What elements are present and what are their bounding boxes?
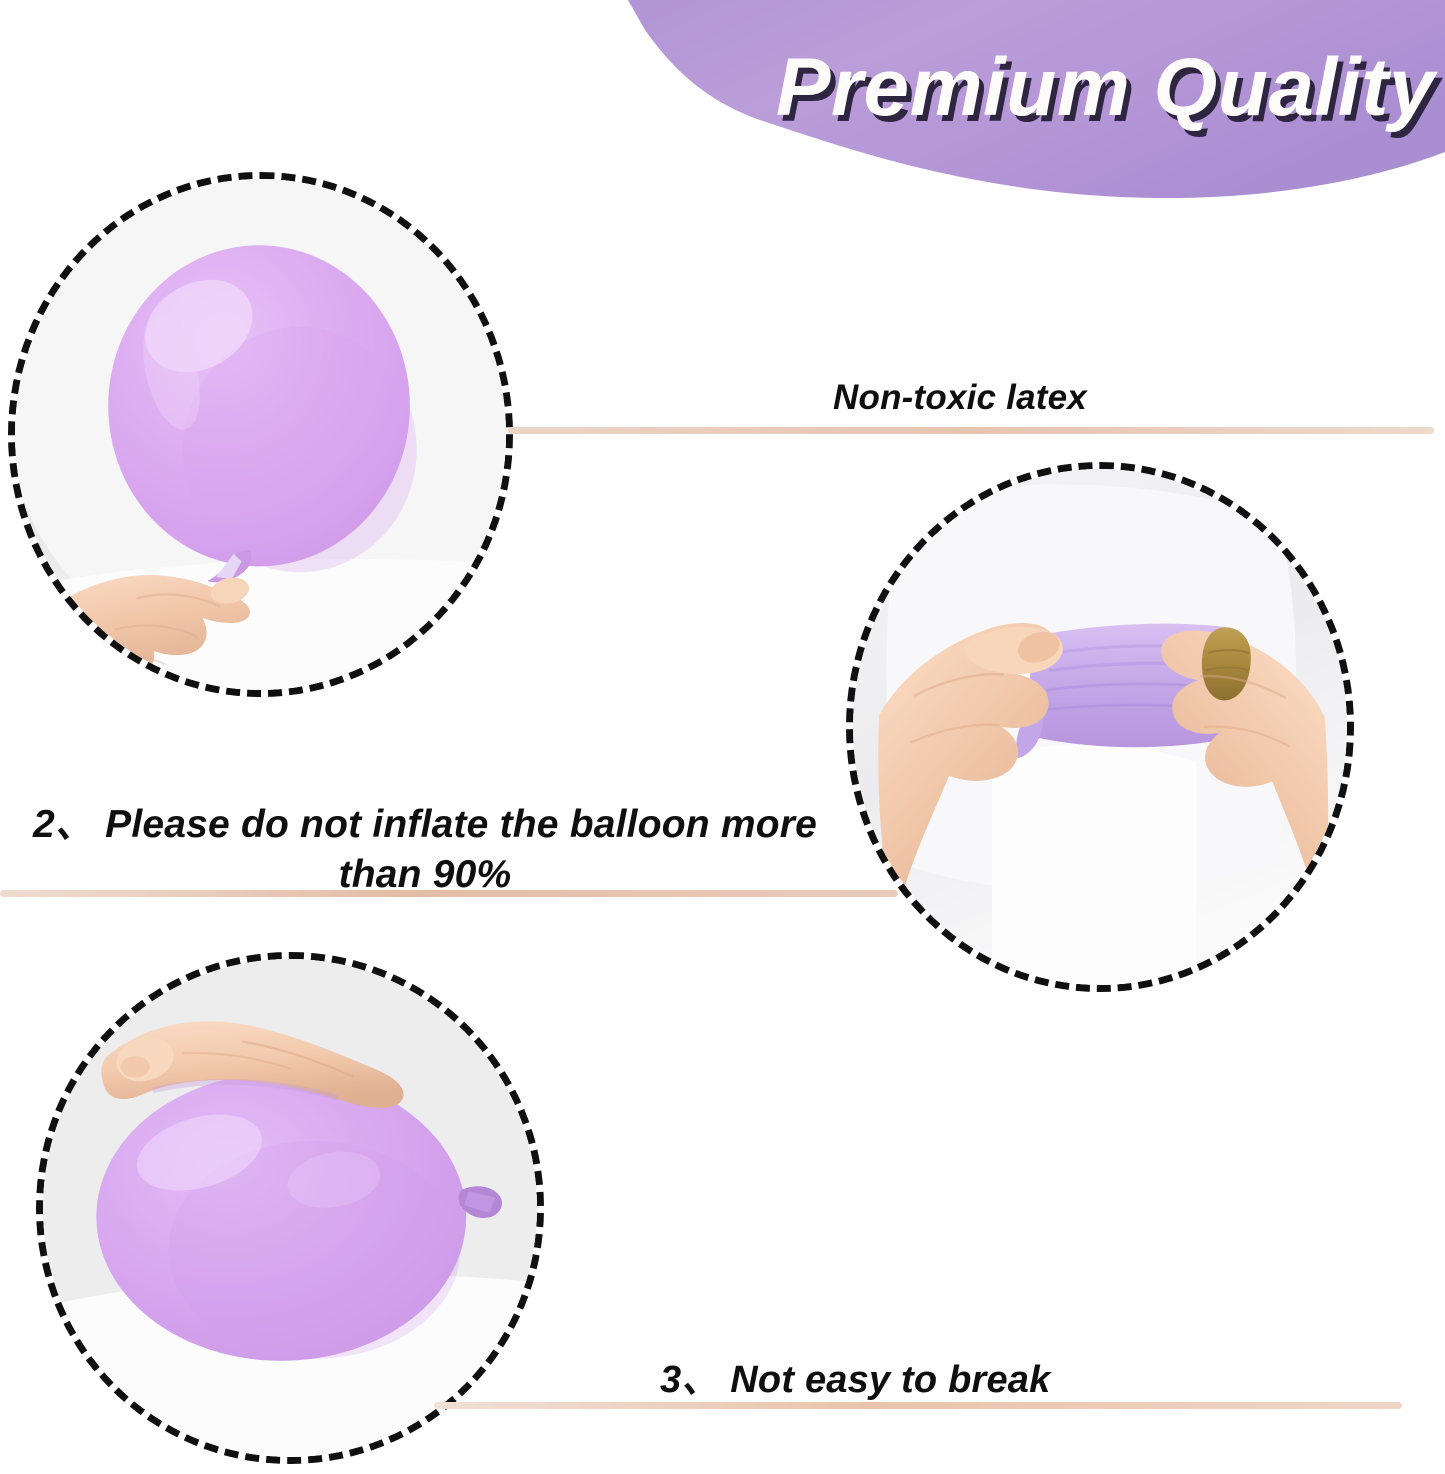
hand-holding-inflated-balloon-image [8,172,513,697]
feature-label-inflate-limit: 2、 Please do not inflate the balloon mor… [10,800,840,900]
feature-photo-non-toxic-latex [8,172,513,697]
infographic-root: Premium Quality [0,0,1445,1474]
page-title: Premium Quality [625,38,1435,138]
divider-line-2 [0,890,898,897]
divider-line-1 [508,427,1434,434]
feature-label-non-toxic-latex: Non-toxic latex [640,378,1280,418]
hand-pressing-balloon-image [36,952,544,1464]
feature-photo-not-easy-to-break [36,952,544,1464]
feature-label-inflate-limit-line1: 2、 Please do not inflate the balloon mor… [10,800,840,850]
divider-line-3 [434,1402,1402,1409]
feature-label-not-easy-to-break: 3、 Not easy to break [660,1348,1360,1403]
two-hands-stretching-balloon-image [846,462,1354,992]
feature-photo-stretch-test [846,462,1354,992]
